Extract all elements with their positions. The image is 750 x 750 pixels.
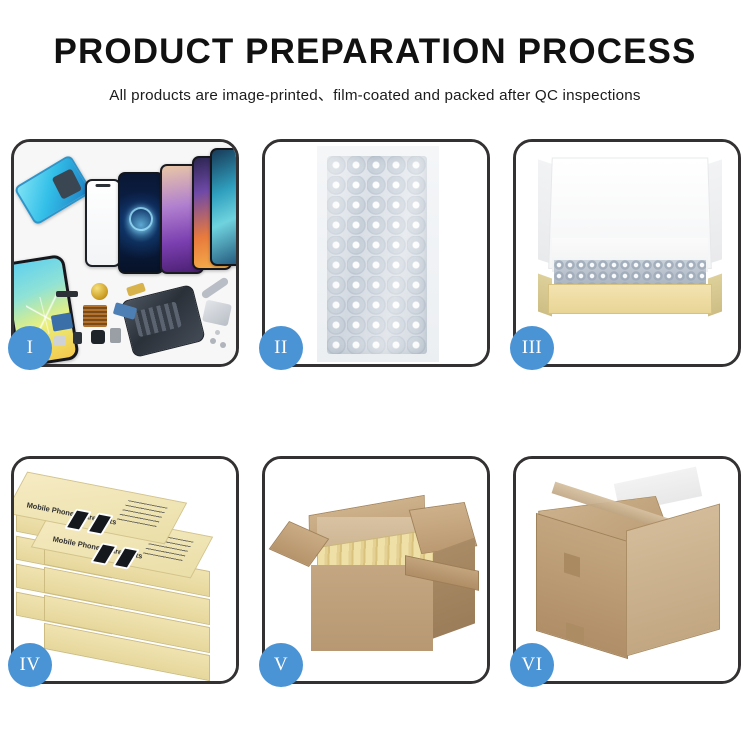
- step-badge-2: II: [259, 326, 303, 370]
- step-panel-4: Mobile Phone Spare Parts Mobile Phone Sp…: [11, 456, 239, 684]
- step-2-image: [265, 142, 487, 364]
- step-6-image: [516, 459, 738, 681]
- phone-screen-jellyfish: [118, 172, 164, 274]
- bubble-wrapped-contents: [554, 260, 706, 286]
- screw-part-a: [210, 338, 216, 344]
- step-badge-6: VI: [510, 643, 554, 687]
- page-subtitle: All products are image-printed、film-coat…: [0, 83, 750, 105]
- infographic-page: PRODUCT PREPARATION PROCESS All products…: [0, 0, 750, 750]
- step-panel-6: VI: [513, 456, 741, 684]
- screw-part-b: [220, 342, 226, 348]
- step-badge-1: I: [8, 326, 52, 370]
- step-5-image: [265, 459, 487, 681]
- step-panel-5: V: [262, 456, 490, 684]
- screw-part-c: [215, 330, 220, 335]
- step-4-image: Mobile Phone Spare Parts Mobile Phone Sp…: [14, 459, 236, 681]
- connector-part-b: [54, 336, 66, 346]
- step-badge-3: III: [510, 326, 554, 370]
- carton-front: [311, 565, 433, 651]
- step-panel-2: II: [262, 139, 490, 367]
- flex-cable-part-c: [126, 282, 146, 296]
- box-stack: Mobile Phone Spare Parts Mobile Phone Sp…: [14, 459, 236, 681]
- phone-screen-blue: [14, 154, 93, 226]
- step-badge-5: V: [259, 643, 303, 687]
- step-3-image: [516, 142, 738, 364]
- process-steps-grid: I II III: [11, 139, 741, 684]
- carton-right-face: [626, 504, 720, 657]
- tweezers-tool: [202, 300, 232, 327]
- step-panel-3: III: [513, 139, 741, 367]
- flex-cable-part-a: [51, 312, 73, 331]
- box-front-panel: [548, 284, 712, 314]
- header: PRODUCT PREPARATION PROCESS All products…: [0, 0, 750, 105]
- screwdriver-tool: [200, 276, 229, 299]
- step-1-image: [14, 142, 236, 364]
- copper-grid-part: [83, 305, 107, 327]
- battery-part: [110, 328, 121, 343]
- step-badge-4: IV: [8, 643, 52, 687]
- speaker-part: [91, 283, 108, 300]
- bubble-wrap-gloss: [327, 156, 427, 354]
- phone-glass-white: [85, 179, 121, 267]
- connector-part-a: [73, 332, 82, 344]
- phone-screen-teal: [210, 148, 236, 266]
- earpiece-part: [56, 291, 78, 297]
- page-title: PRODUCT PREPARATION PROCESS: [0, 34, 750, 69]
- step-panel-1: I: [11, 139, 239, 367]
- camera-module-part: [91, 330, 105, 344]
